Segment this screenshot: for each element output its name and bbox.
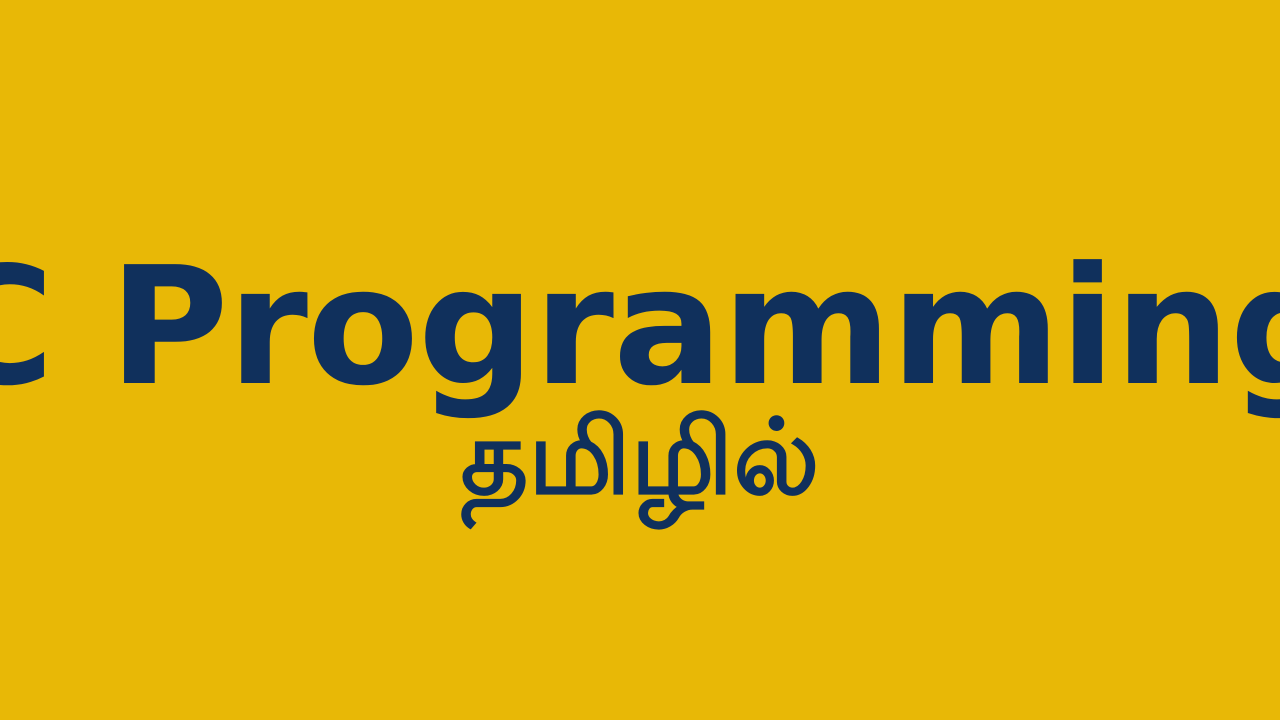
title-lockup: C Programming தமிழில் bbox=[0, 258, 1280, 510]
title-card: C Programming தமிழில் bbox=[0, 0, 1280, 720]
subtitle-tamil: தமிழில் bbox=[461, 404, 820, 510]
page-title: C Programming bbox=[0, 258, 1280, 398]
